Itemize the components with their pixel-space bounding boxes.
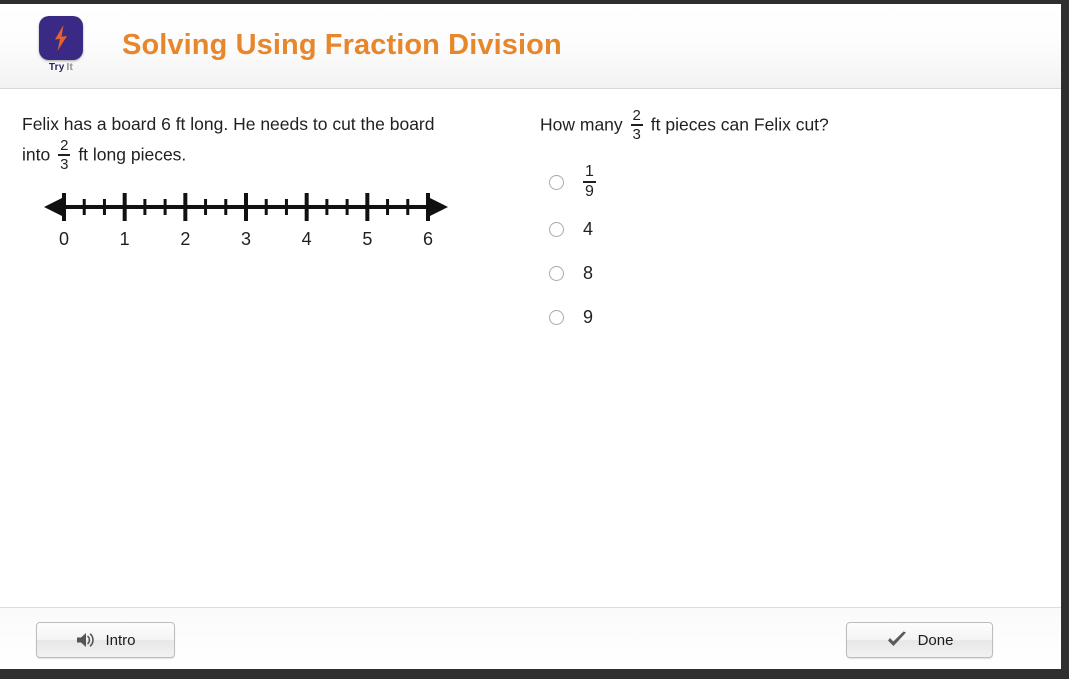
answer-choice-label: 4 xyxy=(583,219,593,240)
answer-choice-list: 19489 xyxy=(540,164,1020,332)
problem-panel: Felix has a board 6 ft long. He needs to… xyxy=(22,109,512,173)
answer-choice-radio[interactable] xyxy=(549,310,564,325)
done-button[interactable]: Done xyxy=(846,622,993,658)
question-prompt: How many 2 3 ft pieces can Felix cut? xyxy=(540,109,1020,143)
problem-line-1: Felix has a board 6 ft long. He needs to… xyxy=(22,114,434,134)
app-logo: TryIt xyxy=(35,16,87,73)
problem-statement: Felix has a board 6 ft long. He needs to… xyxy=(22,109,512,173)
number-line-label: 4 xyxy=(302,229,312,249)
question-fraction-numerator: 2 xyxy=(631,108,643,123)
page-footer: Intro Done xyxy=(0,607,1061,674)
number-line-label: 1 xyxy=(120,229,130,249)
number-line-label: 0 xyxy=(59,229,69,249)
answer-choice[interactable]: 8 xyxy=(540,258,1020,288)
answer-choice-radio[interactable] xyxy=(549,266,564,281)
number-line-left-arrow xyxy=(44,197,64,217)
question-suffix: ft pieces can Felix cut? xyxy=(651,115,829,135)
number-line-label: 5 xyxy=(362,229,372,249)
logo-caption: TryIt xyxy=(35,62,87,73)
intro-button[interactable]: Intro xyxy=(36,622,175,658)
page-header: TryIt Solving Using Fraction Division xyxy=(0,4,1061,89)
answer-choice-fraction-denominator: 9 xyxy=(583,184,596,200)
number-line-svg: 0123456 xyxy=(32,187,452,257)
answer-choice[interactable]: 4 xyxy=(540,214,1020,244)
answer-choice-radio[interactable] xyxy=(549,222,564,237)
page-title: Solving Using Fraction Division xyxy=(122,29,562,62)
question-fraction-denominator: 3 xyxy=(631,127,643,142)
answer-choice-label: 19 xyxy=(583,164,596,200)
intro-button-label: Intro xyxy=(105,632,135,649)
logo-caption-secondary: It xyxy=(67,62,74,73)
speaker-icon xyxy=(75,631,95,649)
number-line-label: 3 xyxy=(241,229,251,249)
problem-fraction: 2 3 xyxy=(58,138,70,172)
answer-choice-label: 9 xyxy=(583,307,593,328)
question-fraction: 2 3 xyxy=(631,108,643,142)
problem-fraction-numerator: 2 xyxy=(58,138,70,153)
number-line-right-arrow xyxy=(428,197,448,217)
activity-content: Felix has a board 6 ft long. He needs to… xyxy=(0,89,1061,607)
answer-choice-fraction-numerator: 1 xyxy=(583,164,596,180)
answer-choice-label: 8 xyxy=(583,263,593,284)
logo-tile xyxy=(39,16,83,60)
checkmark-icon xyxy=(886,631,908,649)
number-line-label: 6 xyxy=(423,229,433,249)
question-panel: How many 2 3 ft pieces can Felix cut? 19… xyxy=(540,109,1020,346)
answer-choice-fraction: 19 xyxy=(583,164,596,200)
answer-choice-radio[interactable] xyxy=(549,175,564,190)
problem-line-2-suffix: ft long pieces. xyxy=(78,145,186,165)
number-line-labels: 0123456 xyxy=(59,229,433,249)
activity-window: TryIt Solving Using Fraction Division Fe… xyxy=(0,4,1061,674)
logo-caption-primary: Try xyxy=(49,62,65,73)
number-line-label: 2 xyxy=(180,229,190,249)
answer-choice[interactable]: 9 xyxy=(540,302,1020,332)
answer-choice[interactable]: 19 xyxy=(540,164,1020,200)
question-prefix: How many xyxy=(540,115,623,135)
number-line-diagram: 0123456 xyxy=(32,187,452,257)
done-button-label: Done xyxy=(918,632,954,649)
problem-line-2-prefix: into xyxy=(22,145,50,165)
problem-fraction-denominator: 3 xyxy=(58,157,70,172)
